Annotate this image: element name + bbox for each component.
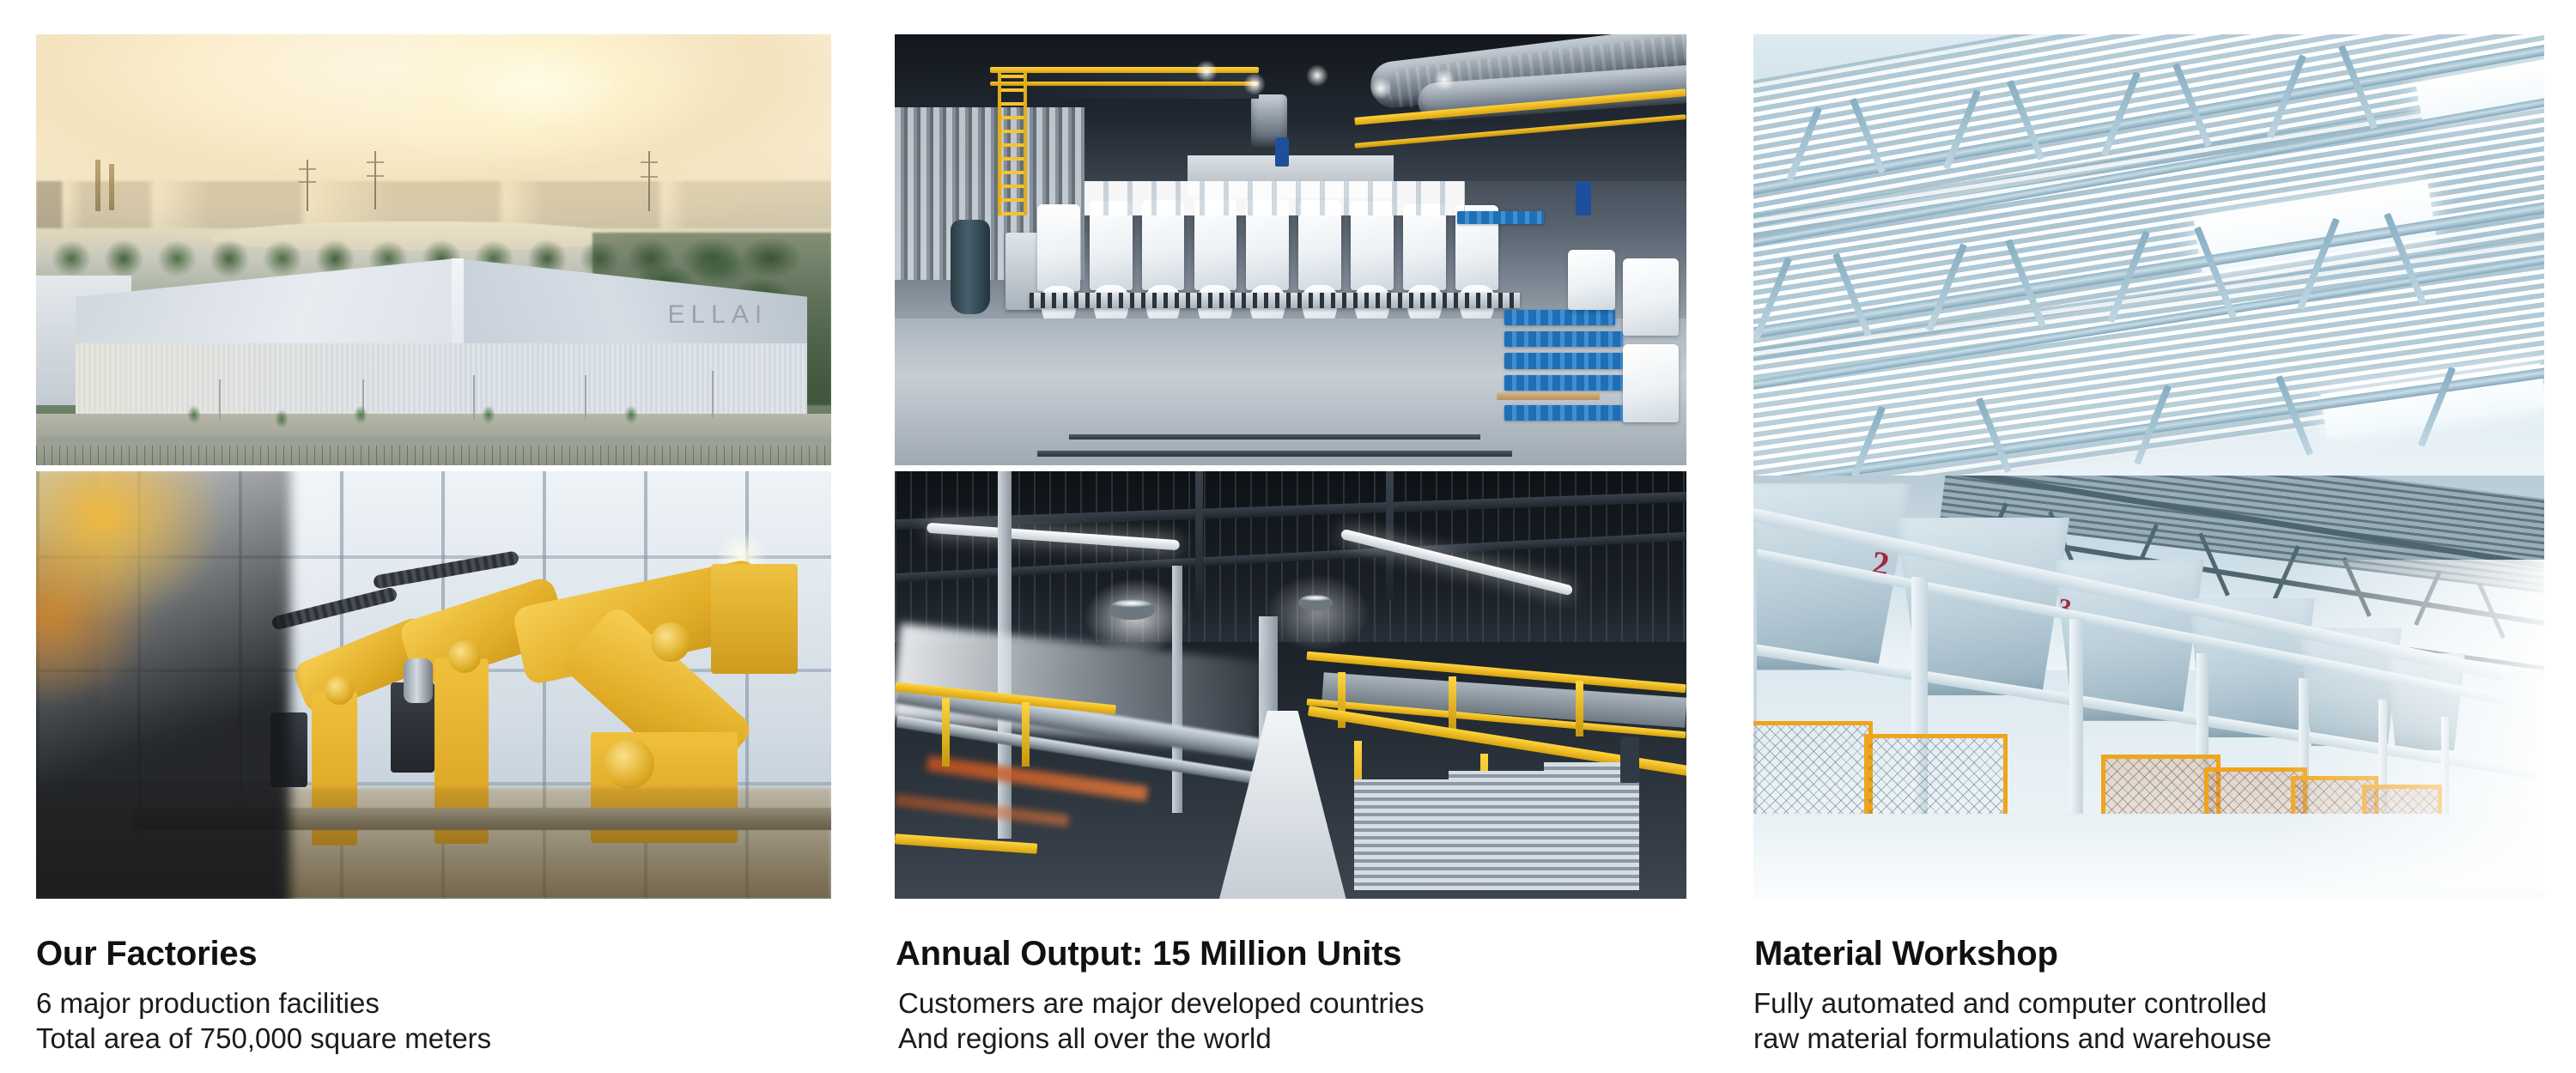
ellai-logo-text: ELLAI xyxy=(667,300,768,330)
caption-line: And regions all over the world xyxy=(898,1021,1425,1057)
sun-glow xyxy=(354,34,720,173)
railing-post xyxy=(1022,702,1030,767)
bright-haze xyxy=(2275,560,2544,890)
lamp-post-icon xyxy=(219,379,221,421)
ceiling-lamp-icon xyxy=(1433,69,1455,91)
caption-body: 6 major production facilities Total area… xyxy=(36,986,491,1056)
sanitaryware-row-back xyxy=(1084,181,1465,215)
robot-arms-photo xyxy=(36,471,831,899)
railing-post xyxy=(1449,676,1456,732)
blue-pallet xyxy=(1504,331,1623,347)
ceramic-unit xyxy=(1037,204,1080,291)
material-hopper-bay-photo: 2 3 xyxy=(1753,476,2544,899)
railing-post xyxy=(1576,681,1583,737)
robot-controller-box xyxy=(711,564,798,675)
yellow-railing xyxy=(990,82,1259,86)
yellow-railing-left xyxy=(895,834,1037,854)
robot-joint xyxy=(605,739,654,789)
perimeter-fence xyxy=(36,446,831,465)
smokestack-icon xyxy=(95,160,100,211)
material-workshop-photo-stack: 2 3 xyxy=(1753,34,2544,899)
steel-truss-roof-photo xyxy=(1753,34,2544,476)
lamp-post-icon xyxy=(585,375,586,420)
caption-line: Fully automated and computer controlled xyxy=(1753,986,2271,1021)
steel-mezzanine xyxy=(990,73,1259,99)
storage-rack xyxy=(1449,771,1544,890)
ceramic-unit-stack xyxy=(1568,250,1615,310)
yellow-railing xyxy=(990,67,1259,73)
pylon-icon xyxy=(648,151,650,211)
rail-track xyxy=(1069,434,1480,440)
palm-tree-icon xyxy=(275,409,289,428)
railing-post xyxy=(942,698,950,767)
caption-heading: Material Workshop xyxy=(1754,936,2271,972)
lamp-glow xyxy=(1267,574,1370,652)
sanitaryware-production-line-photo xyxy=(895,34,1686,465)
timber-stack xyxy=(1497,392,1600,400)
ceramic-unit xyxy=(1403,203,1446,290)
blue-pallet xyxy=(1457,211,1544,224)
pendant-lamp-icon xyxy=(1109,599,1155,620)
paint-canister xyxy=(404,658,433,703)
caption-line: Total area of 750,000 square meters xyxy=(36,1021,491,1057)
blue-pallet xyxy=(1504,353,1631,368)
conveyor-product-blur xyxy=(895,794,1069,827)
ceramic-unit-stack xyxy=(1623,344,1679,421)
smokestack-icon xyxy=(109,164,114,210)
ceramic-unit-stack xyxy=(1623,258,1679,336)
caption-heading: Annual Output: 15 Million Units xyxy=(896,936,1425,972)
caption-line: raw material formulations and warehouse xyxy=(1753,1021,2271,1057)
ceiling-lamp-icon xyxy=(1243,73,1266,95)
caption-line: Customers are major developed countries xyxy=(898,986,1425,1021)
aerial-factory-sunset-photo: ELLAI xyxy=(36,34,831,465)
pylon-icon xyxy=(374,151,376,209)
caption-our-factories: Our Factories 6 major production facilit… xyxy=(36,936,491,1056)
factory-showcase-board: ELLAI xyxy=(0,0,2576,1073)
caption-material-workshop: Material Workshop Fully automated and co… xyxy=(1753,936,2271,1056)
roof-ridge xyxy=(452,258,464,346)
pylon-icon xyxy=(307,160,308,211)
conveyor-hall-photo xyxy=(895,471,1686,899)
caption-line: 6 major production facilities xyxy=(36,986,491,1021)
worker-figure xyxy=(1576,181,1591,215)
pendant-lamp-icon xyxy=(1298,595,1333,610)
robot-joint xyxy=(448,640,481,673)
rack-slots xyxy=(1030,293,1521,308)
caption-annual-output: Annual Output: 15 Million Units Customer… xyxy=(895,936,1425,1056)
blue-pallet xyxy=(1504,375,1639,391)
palm-tree-icon xyxy=(187,405,201,424)
lamp-post-icon xyxy=(712,371,714,419)
worker-figure xyxy=(1275,137,1289,167)
blurred-foreground xyxy=(36,471,290,899)
column-material-workshop: 2 3 xyxy=(1753,34,2544,899)
caption-body: Fully automated and computer controlled … xyxy=(1753,986,2271,1056)
pressure-tank xyxy=(951,220,990,314)
rail-track xyxy=(1037,451,1512,457)
blue-pallet xyxy=(1504,310,1615,325)
column-annual-output: Annual Output: 15 Million Units Customer… xyxy=(895,34,1686,899)
ceiling-beam xyxy=(1386,471,1394,599)
roof-left-slope xyxy=(76,258,456,346)
lamp-post-icon xyxy=(473,375,475,420)
palm-tree-icon xyxy=(624,405,638,424)
robot-joint xyxy=(325,676,354,705)
caption-body: Customers are major developed countries … xyxy=(898,986,1425,1056)
robot-joint xyxy=(651,622,690,662)
caption-heading: Our Factories xyxy=(36,936,491,972)
worker-figure xyxy=(1620,737,1639,783)
ladder-icon xyxy=(998,73,1027,215)
ceiling-beam xyxy=(1195,471,1203,616)
palm-tree-icon xyxy=(482,405,495,424)
storage-rack xyxy=(1354,779,1449,890)
column-our-factories: ELLAI xyxy=(36,34,831,899)
